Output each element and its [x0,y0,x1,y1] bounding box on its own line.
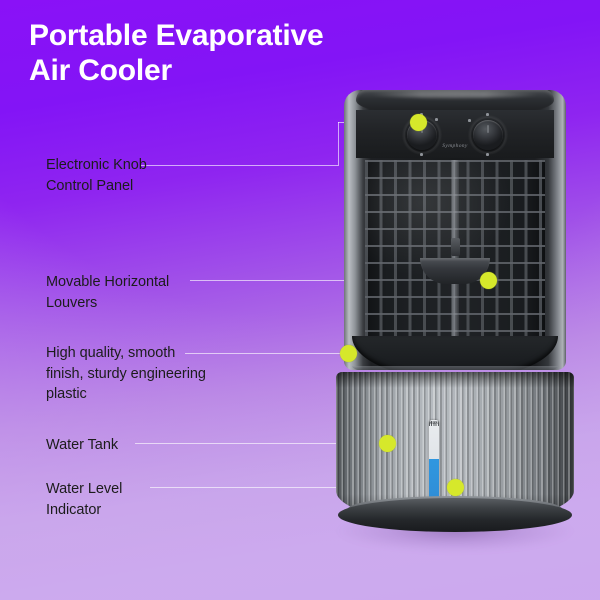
knob-tick-left-3 [420,153,423,156]
control-panel: Symphony [356,110,554,158]
callout-label-louvers: Movable Horizontal Louvers [46,272,241,313]
product-upper-body: Symphony [344,90,566,370]
callout-dot-louvers[interactable] [480,272,497,289]
mode-knob[interactable] [473,120,503,150]
callout-dot-water-tank[interactable] [379,435,396,452]
callout-dot-water-level[interactable] [447,479,464,496]
callout-label-water-level: Water Level Indicator [46,479,231,520]
knob-tick-left-2 [435,118,438,121]
callout-dot-control-panel[interactable] [410,114,427,131]
product-top-highlight [370,91,540,98]
grille-highlight [365,160,545,352]
knob-tick-right-1 [486,113,489,116]
upper-body-bottom-lip [352,336,558,370]
upper-body-lip-edge [352,366,558,370]
page-title: Portable Evaporative Air Cooler [29,18,449,89]
callout-label-control-panel: Electronic Knob Control Panel [46,155,231,196]
water-tank-top-shading [336,372,574,388]
callout-label-build-quality: High quality, smooth finish, sturdy engi… [46,343,261,405]
brand-logo: Symphony [442,143,467,149]
water-level-max-label: MAX [429,421,439,426]
knob-tick-right-3 [486,153,489,156]
front-grille [365,160,545,352]
knob-tick-right-2 [468,119,471,122]
callout-dot-build-quality[interactable] [340,345,357,362]
infographic-canvas: Portable Evaporative Air Cooler Electron… [0,0,600,600]
product-base-rim [338,498,572,532]
callout-label-water-tank: Water Tank [46,435,231,456]
page-title-line-1: Portable Evaporative [29,18,449,53]
page-title-line-2: Air Cooler [29,53,449,88]
